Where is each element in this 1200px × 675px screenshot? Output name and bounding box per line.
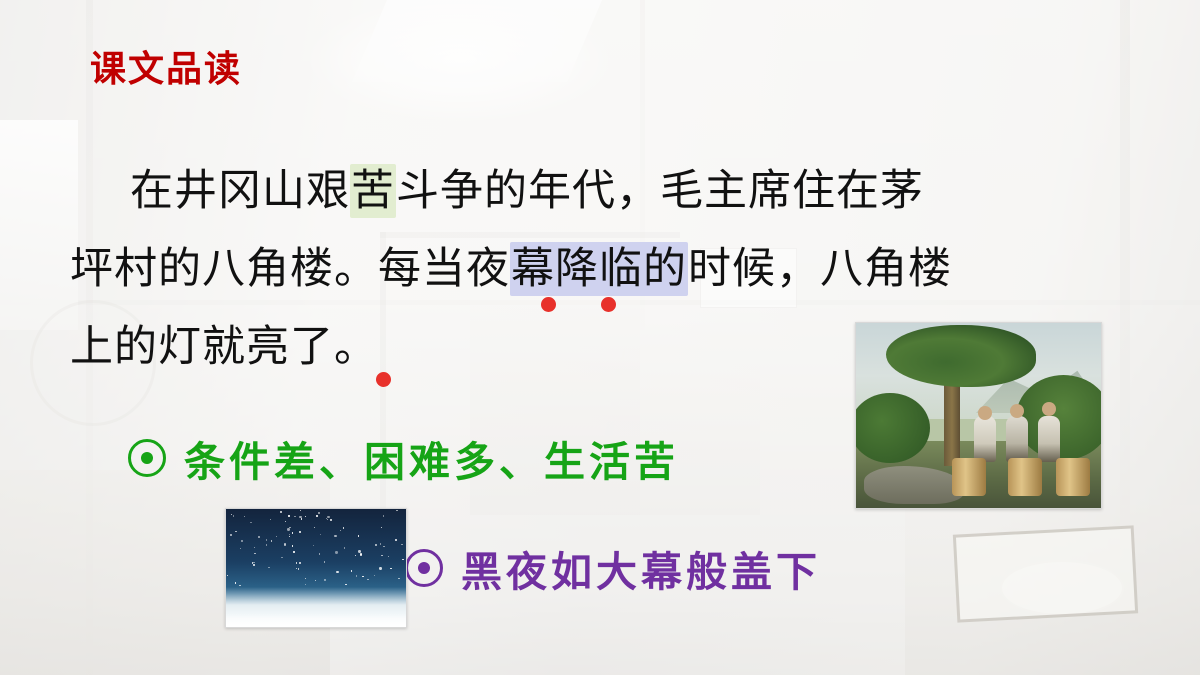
painting-figure-head (1010, 404, 1024, 418)
star-icon (280, 511, 281, 512)
star-icon (292, 545, 293, 546)
highlight-purple-text: 幕降临的 (510, 242, 688, 296)
ring-bullet-icon (128, 439, 166, 477)
star-icon (379, 567, 381, 569)
star-icon (241, 540, 242, 541)
star-icon (335, 551, 337, 553)
star-icon (390, 568, 391, 569)
star-icon (253, 562, 254, 563)
star-icon (402, 559, 403, 560)
bullet-item-night: 黑夜如大幕般盖下 (405, 538, 821, 598)
star-icon (381, 555, 382, 556)
star-icon (271, 540, 272, 541)
page-title: 课文品读 (90, 40, 242, 92)
star-icon (253, 564, 254, 565)
star-icon (254, 553, 255, 554)
star-icon (299, 562, 300, 563)
star-icon (316, 515, 317, 516)
star-icon (358, 550, 360, 552)
star-icon (287, 528, 289, 530)
emphasis-dot-icon (376, 372, 391, 387)
star-icon (356, 575, 357, 576)
star-icon (380, 543, 381, 544)
star-icon (318, 512, 320, 514)
bullet-label-night: 黑夜如大幕般盖下 (461, 538, 821, 598)
starry-night-photo (225, 508, 407, 628)
painting-figure (1038, 416, 1060, 462)
paragraph-line-2-part-b: 时候，八角楼 (688, 244, 952, 294)
bullet-label-condition: 条件差、困难多、生活苦 (184, 428, 679, 488)
star-icon (293, 551, 294, 552)
star-icon (324, 579, 325, 580)
star-icon (288, 515, 289, 516)
paragraph-line-3-text: 上的灯就亮了。 (70, 322, 378, 372)
star-icon (230, 534, 231, 535)
paragraph-line-1-part-b: 斗争的年代，毛主席住在茅 (396, 166, 924, 216)
paragraph-line-2-part-a: 坪村的八角楼。每当夜 (70, 244, 510, 294)
star-icon (396, 510, 397, 511)
painting-barrel (1008, 458, 1042, 496)
star-icon (235, 531, 236, 532)
paragraph-line-1-part-a: 在井冈山艰 (130, 166, 350, 216)
slide-canvas: 课文品读 在井冈山艰苦斗争的年代，毛主席住在茅 坪村的八角楼。每当夜幕降临的时候… (0, 0, 1200, 675)
painting-figure (974, 416, 996, 462)
star-icon (233, 515, 234, 516)
emphasis-dot-icon (541, 297, 556, 312)
bullet-item-condition: 条件差、困难多、生活苦 (128, 428, 679, 488)
painting-barrel (952, 458, 986, 496)
star-icon (327, 516, 329, 518)
star-icon (284, 543, 286, 545)
star-icon (360, 553, 362, 555)
star-icon (375, 544, 376, 545)
painting-figure-head (1042, 402, 1056, 416)
star-icon (299, 516, 301, 518)
star-icon (344, 547, 345, 548)
star-icon (296, 568, 297, 569)
emphasis-dot-icon (601, 297, 616, 312)
star-icon (270, 519, 271, 520)
star-icon (299, 531, 300, 532)
painting-barrel (1056, 458, 1090, 496)
painting-photo (855, 322, 1102, 509)
star-icon (227, 575, 228, 576)
highlight-green-text: 苦 (350, 164, 396, 218)
ring-bullet-icon (405, 549, 443, 587)
paragraph-line-2: 坪村的八角楼。每当夜幕降临的时候，八角楼 (70, 230, 1160, 308)
star-icon (298, 568, 299, 569)
star-icon (336, 571, 338, 573)
painting-figure (1006, 416, 1028, 462)
star-icon (330, 519, 331, 520)
night-white-wash (226, 587, 406, 627)
star-icon (266, 539, 267, 540)
paragraph-line-1: 在井冈山艰苦斗争的年代，毛主席住在茅 (70, 152, 1160, 230)
star-icon (383, 546, 384, 547)
star-icon (388, 556, 389, 557)
picture-frame-on-table (953, 525, 1138, 622)
star-icon (358, 535, 359, 536)
painting-figure-head (978, 406, 992, 420)
star-icon (401, 544, 402, 545)
star-icon (294, 516, 295, 517)
star-icon (250, 522, 251, 523)
star-icon (252, 562, 253, 563)
